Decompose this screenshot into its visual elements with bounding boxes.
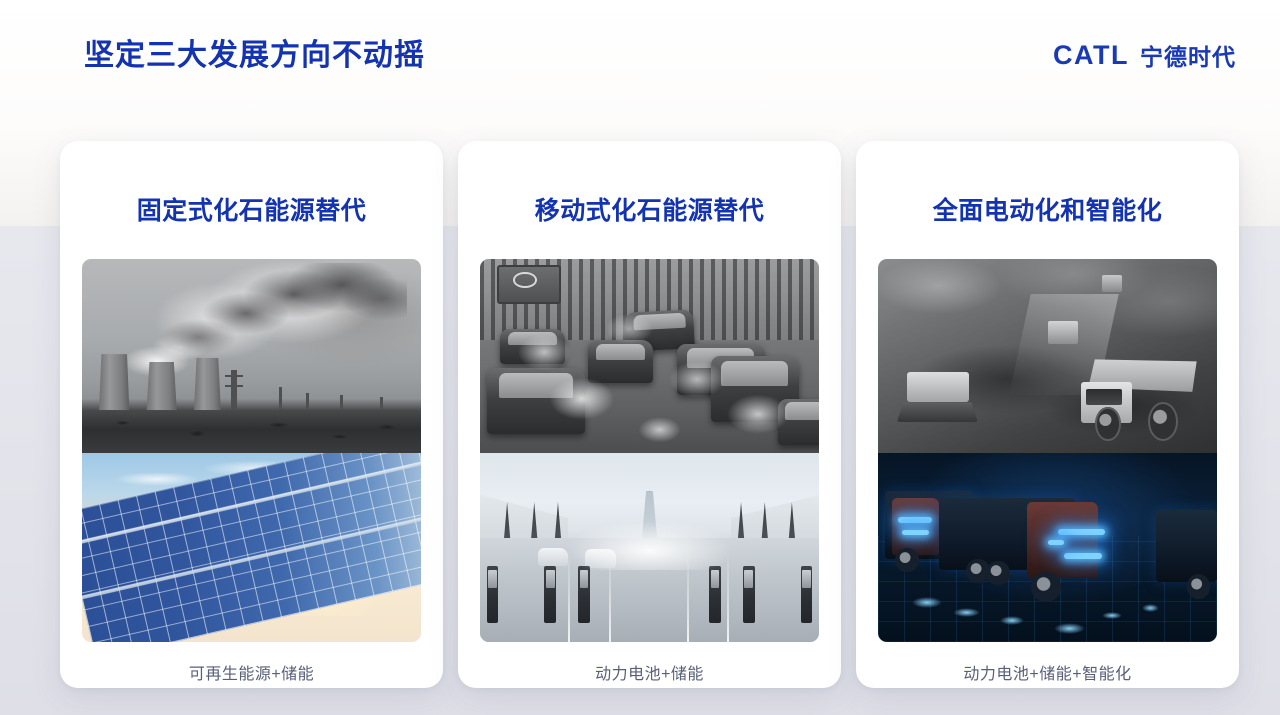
haul-truck	[1081, 356, 1196, 441]
headlight-glow	[902, 530, 929, 535]
brand-chinese-text: 宁德时代	[1140, 38, 1236, 72]
parked-ev	[538, 548, 569, 567]
card-media	[878, 259, 1217, 642]
ev-charger	[578, 566, 590, 623]
electric-trucks-image	[878, 453, 1217, 642]
card-title: 固定式化石能源替代	[137, 191, 367, 227]
bulldozer	[892, 368, 980, 422]
ev-charger	[709, 566, 721, 623]
coal-power-plant-image	[82, 259, 421, 453]
ev-charging-station-image	[480, 453, 819, 642]
card-caption: 动力电池+储能	[595, 660, 704, 684]
headlight-glow	[1064, 553, 1101, 559]
distant-haul-truck	[1048, 321, 1079, 344]
horizon-haze	[568, 521, 731, 570]
floor-light-reflection	[1000, 616, 1024, 625]
exhaust-fumes	[480, 259, 819, 453]
bulldozer-body	[907, 372, 969, 402]
headlight-glow	[1048, 540, 1065, 545]
card-full-electrification-intelligence[interactable]: 全面电动化和智能化	[856, 141, 1239, 688]
ev-charger	[487, 566, 499, 623]
cooling-tower	[146, 362, 177, 412]
page-title: 坚定三大发展方向不动摇	[84, 39, 425, 72]
brand-latin-text: CATL	[1053, 40, 1129, 71]
ev-charger	[743, 566, 755, 623]
card-media	[82, 259, 421, 642]
cooling-tower	[99, 354, 130, 412]
power-pylon	[279, 387, 283, 412]
headlight-glow	[898, 517, 932, 523]
power-pylon	[231, 370, 236, 413]
card-fixed-fossil-replacement[interactable]: 固定式化石能源替代 可再生能源+储能	[60, 141, 443, 688]
truck-wheel	[1031, 572, 1062, 602]
catl-logo: CATL 宁德时代	[1053, 38, 1236, 72]
traffic-exhaust-image	[480, 259, 819, 453]
slide-header: 坚定三大发展方向不动摇 CATL 宁德时代	[0, 0, 1280, 110]
solar-panel-image	[82, 453, 421, 642]
bulldozer-track	[897, 402, 978, 422]
card-mobile-fossil-replacement[interactable]: 移动式化石能源替代	[458, 141, 841, 688]
headlight-glow	[1058, 529, 1105, 536]
open-pit-mine-image	[878, 259, 1217, 453]
distant-haul-truck	[1102, 275, 1122, 292]
card-caption: 可再生能源+储能	[189, 660, 314, 684]
truck-wheel	[1187, 574, 1211, 599]
floor-light-reflection	[912, 597, 943, 608]
haul-truck-wheel	[1148, 402, 1178, 441]
haul-truck-wheel	[1095, 407, 1120, 441]
cooling-tower	[194, 358, 221, 412]
truck-wheel	[895, 548, 919, 573]
ev-charger	[544, 566, 556, 623]
foreground-ground	[82, 410, 421, 453]
floor-light-reflection	[1142, 604, 1159, 612]
card-title: 移动式化石能源替代	[535, 191, 765, 227]
card-title: 全面电动化和智能化	[933, 191, 1163, 227]
electric-truck-right	[1156, 510, 1217, 582]
card-media	[480, 259, 819, 642]
electric-truck-cab	[892, 498, 939, 555]
ev-charger	[801, 566, 813, 623]
card-caption: 动力电池+储能+智能化	[963, 660, 1131, 684]
